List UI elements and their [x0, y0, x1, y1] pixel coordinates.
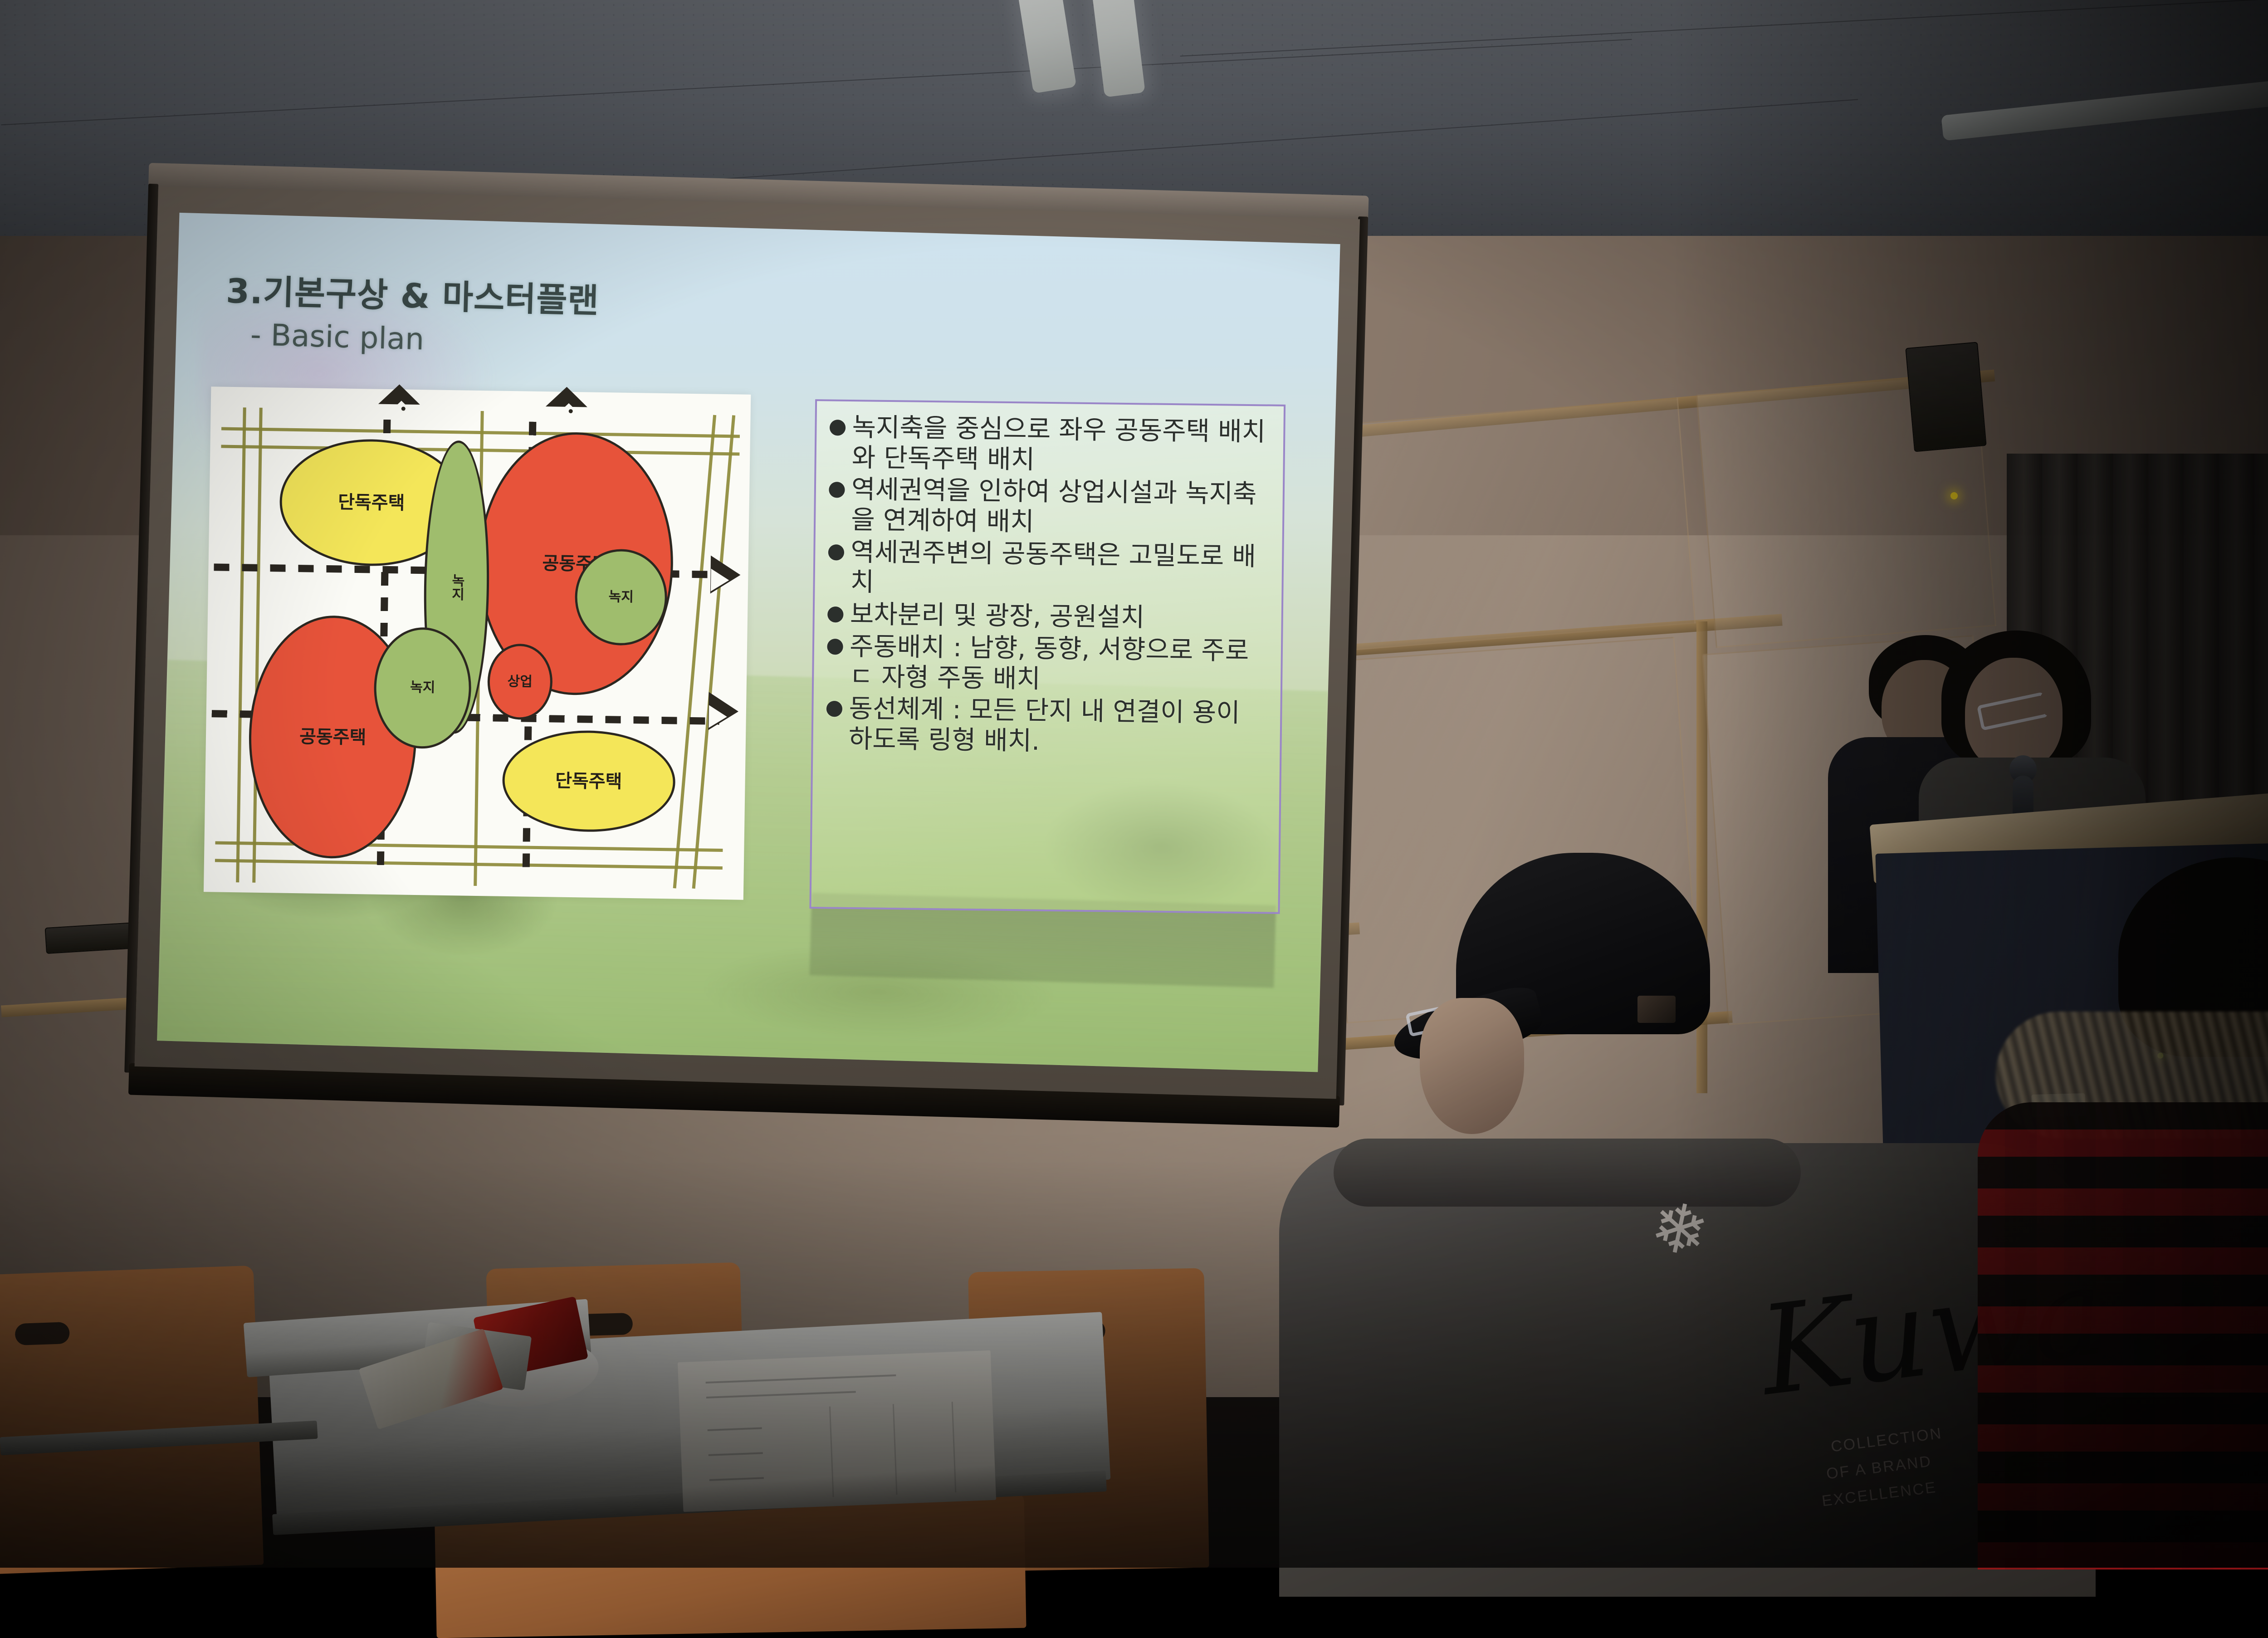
cap-badge: [1637, 996, 1676, 1023]
bullet-marker-icon: ●: [826, 631, 844, 659]
diagram-zone-red: 상업: [487, 644, 553, 720]
notebook-handout: [678, 1350, 996, 1512]
notebook-text-line: [706, 1374, 896, 1384]
masterplan-diagram: 단독주택공동주택녹지공동주택녹지녹지상업단독주택: [204, 387, 751, 900]
house-gable-icon-inner: [390, 401, 413, 412]
chair-handle-cutout: [15, 1322, 70, 1345]
slide-bullet: ●역세권역을 인하여 상업시설과 녹지축을 연계하여 배치: [827, 474, 1271, 540]
wall-panel: [1334, 397, 1696, 650]
slide-bullet-text: 역세권주변의 공동주택은 고밀도로 배치: [850, 537, 1270, 602]
seated-audience-capped: ❄ Kuwa COLLECTION OF A BRAND EXCELLENCE: [1306, 826, 2077, 1597]
slide-title: 3.기본구상 & 마스터플랜: [225, 264, 600, 322]
notebook-text-line: [709, 1452, 763, 1456]
bullet-marker-icon: ●: [826, 599, 845, 627]
wooden-chair[interactable]: [0, 1266, 264, 1574]
diagram-layer: 단독주택공동주택녹지공동주택녹지녹지상업단독주택: [204, 387, 751, 900]
slide-bullet-text: 보차분리 및 광장, 공원설치: [850, 599, 1269, 634]
slide-bullet: ●녹지축을 중심으로 좌우 공동주택 배치와 단독주택 배치: [828, 412, 1271, 478]
hood-roll: [1334, 1139, 1801, 1207]
road-line: [215, 859, 723, 870]
slide-bullet: ●역세권주변의 공동주택은 고밀도로 배치: [826, 537, 1270, 602]
projection-screen: 3.기본구상 & 마스터플랜 - Basic plan: [123, 163, 1369, 1134]
road-line: [692, 415, 735, 889]
presentation-slide: 3.기본구상 & 마스터플랜 - Basic plan: [157, 213, 1340, 1072]
plaid-jacket: [1978, 1102, 2268, 1570]
notebook-text-line: [706, 1391, 856, 1398]
seated-audience-fur-jacket: [1969, 907, 2268, 1570]
slide-bullet-text: 역세권역을 인하여 상업시설과 녹지축을 연계하여 배치: [851, 475, 1271, 540]
house-gable-icon-inner: [557, 403, 581, 415]
road-line: [252, 408, 263, 883]
slide-bullet-text: 주동배치 : 남향, 동향, 서향으로 주로 ㄷ 자형 주동 배치: [849, 631, 1269, 697]
bullet-marker-icon: ●: [828, 412, 847, 440]
notebook-rule: [952, 1402, 957, 1492]
bullet-marker-icon: ●: [827, 474, 846, 502]
status-led-indicator: [1950, 492, 1958, 499]
classroom-scene: 3.기본구상 & 마스터플랜 - Basic plan: [0, 0, 2268, 1568]
neck-and-ear: [1420, 998, 1524, 1134]
right-arrow-icon-inner: [711, 569, 729, 592]
slide-bullet: ●동선체계 : 모든 단지 내 연결이 용이 하도록 링형 배치.: [825, 694, 1268, 759]
slide-bullet: ●주동배치 : 남향, 동향, 서향으로 주로 ㄷ 자형 주동 배치: [826, 631, 1269, 696]
bullet-marker-icon: ●: [827, 537, 846, 564]
road-line: [236, 407, 247, 882]
right-arrow-icon-inner: [709, 705, 728, 729]
road-line: [673, 415, 716, 889]
notebook-rule: [829, 1407, 834, 1497]
slide-text-box: ●녹지축을 중심으로 좌우 공동주택 배치와 단독주택 배치●역세권역을 인하여…: [809, 399, 1285, 914]
notebook-text-line: [708, 1427, 762, 1431]
notebook-rule: [893, 1404, 898, 1495]
slide-subtitle: - Basic plan: [250, 318, 425, 357]
slide-bullet: ●보차분리 및 광장, 공원설치: [826, 599, 1269, 635]
slide-bullet-text: 동선체계 : 모든 단지 내 연결이 용이 하도록 링형 배치.: [848, 694, 1268, 759]
wall-speaker: [1905, 342, 1986, 452]
slide-bullet-text: 녹지축을 중심으로 좌우 공동주택 배치와 단독주택 배치: [851, 412, 1271, 478]
bullet-marker-icon: ●: [825, 694, 844, 721]
notebook-text-line: [709, 1477, 764, 1481]
